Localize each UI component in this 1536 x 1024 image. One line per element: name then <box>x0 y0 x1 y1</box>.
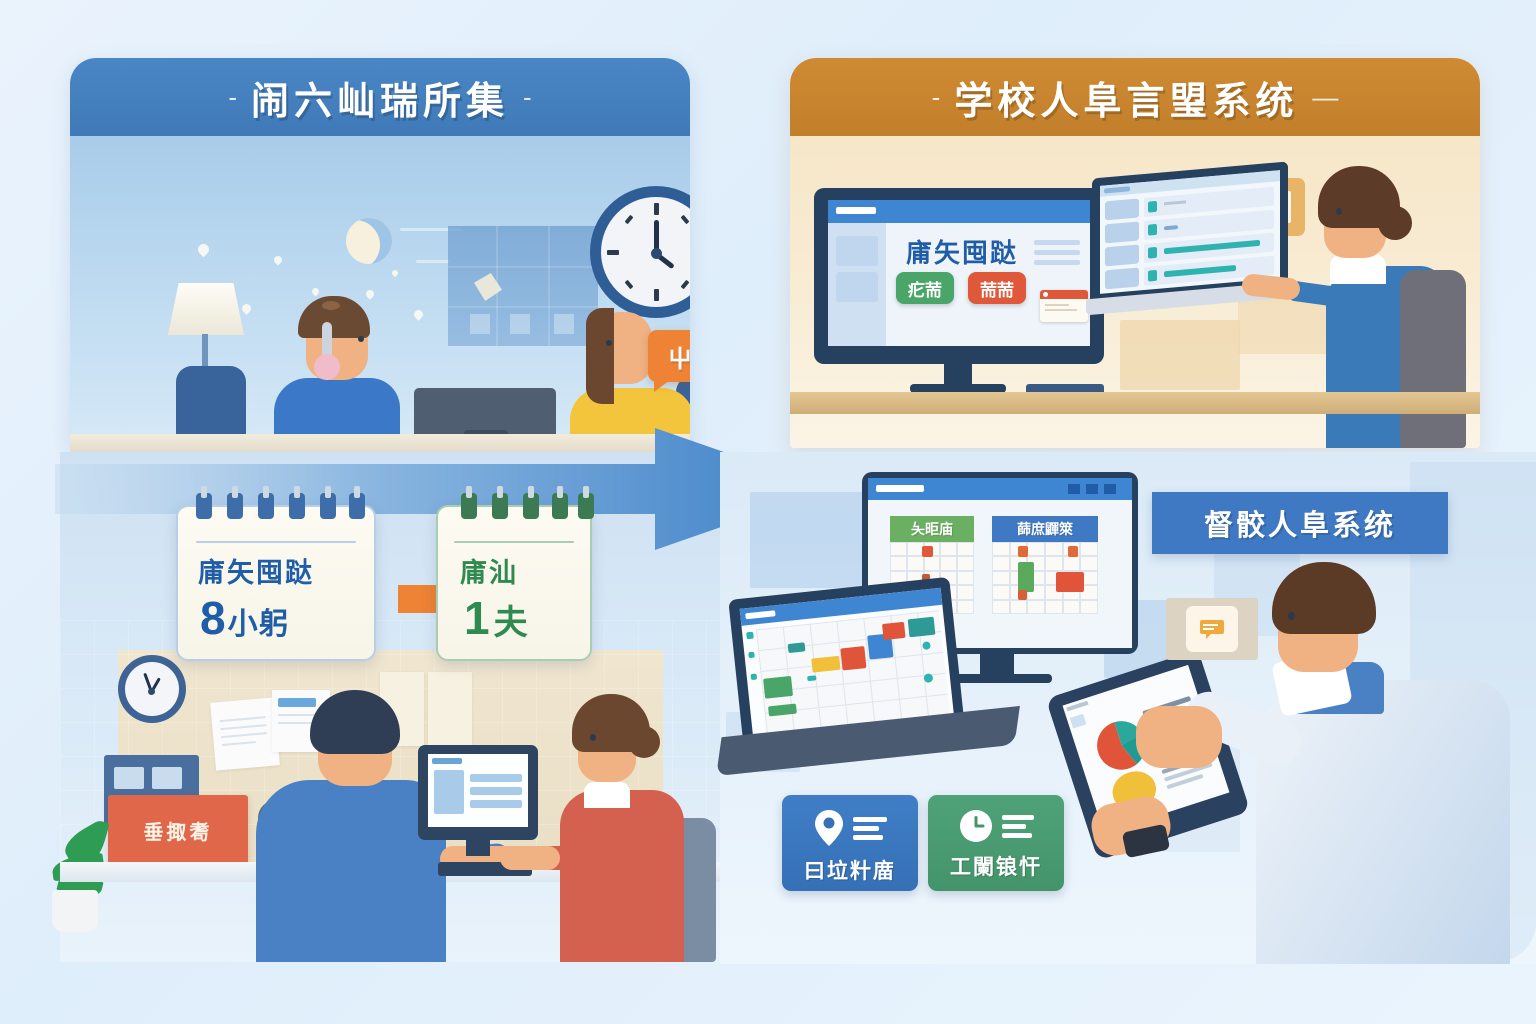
star-icon <box>272 254 283 265</box>
person-woman-red-body <box>560 790 684 962</box>
calendar-event <box>922 546 933 557</box>
location-pin-icon <box>814 809 844 847</box>
calendar-event <box>1018 546 1028 557</box>
lamp-icon <box>168 283 244 335</box>
calendar-ring <box>578 493 594 519</box>
notification-popup[interactable] <box>1040 290 1088 322</box>
list-lines-icon <box>853 817 887 840</box>
star-icon <box>240 302 253 315</box>
calendar-event <box>1056 572 1084 592</box>
calendar-ring <box>196 493 212 519</box>
calendar-right-title: 蒒庶鼲箂 <box>992 516 1098 542</box>
calendar-event <box>1018 590 1027 600</box>
titlebar-label <box>876 485 924 492</box>
eye <box>590 734 596 741</box>
calendar-ring <box>258 493 274 519</box>
calendar-ring <box>349 493 365 519</box>
app-title-bar <box>432 758 462 764</box>
star-icon <box>412 308 425 321</box>
calendar-ring <box>320 493 336 519</box>
plant-pot <box>52 890 98 932</box>
calendar-before-number: 8 <box>200 591 226 645</box>
eye <box>1288 612 1295 620</box>
calendar-ring <box>289 493 305 519</box>
panel-title-night-overtime: 闹六屾瑞所集 <box>251 70 509 125</box>
star-icon <box>391 269 399 277</box>
calendar-ring <box>461 493 477 519</box>
collar <box>584 782 630 808</box>
person-hand <box>500 846 560 870</box>
eye <box>606 340 612 346</box>
calendar-ring <box>492 493 508 519</box>
star-icon <box>364 288 375 299</box>
calendar-after-line1: 庯汕 <box>460 551 518 590</box>
header-dash-left: - <box>932 84 941 110</box>
feature-button-location-label: 曰垃籵庿 <box>804 855 896 885</box>
star-icon <box>311 287 321 297</box>
window-graphic <box>448 226 598 346</box>
hair-bun <box>1378 206 1412 240</box>
star-icon <box>196 242 212 258</box>
eye <box>358 336 364 342</box>
panel-title-school-hr: 学校人阜言琞系统 <box>954 70 1298 125</box>
hair-bun <box>628 726 660 758</box>
calendar-card-before: 庯矢囤跶 8 小躬 <box>176 505 376 661</box>
feature-button-location[interactable]: 曰垃籵庿 <box>782 795 918 891</box>
office-monitor-screen <box>428 754 528 827</box>
red-notice-sign: 垂掫耈 <box>108 795 248 865</box>
moon-icon <box>346 218 392 264</box>
calendar-before-line1: 庯矢囤跶 <box>198 551 314 590</box>
calendar-event <box>1068 546 1078 557</box>
paper-document <box>210 697 280 770</box>
desktop-monitor-screen: 庯矢囤跶 疕荋 荋荋 <box>828 200 1090 346</box>
smart-hr-banner: 督骹人阜系统 <box>1152 492 1448 554</box>
calendar-left-title: 夨昛庙 <box>890 516 974 542</box>
calendar-event <box>1018 562 1034 592</box>
feature-button-attendance[interactable]: 工闌锒忓 <box>928 795 1064 891</box>
monitor-screen-title: 庯矢囤跶 <box>906 233 1018 270</box>
paper-document <box>428 672 472 746</box>
titlebar-label <box>836 207 876 214</box>
cloud-streak <box>416 260 450 263</box>
calendar-after-number: 1 <box>464 591 490 645</box>
person-hand <box>1136 706 1222 768</box>
chat-bubble-tile[interactable] <box>1186 606 1238 652</box>
eye <box>1336 208 1342 215</box>
panel-school-hr-system: - 学校人阜言琞系统 — 庯矢 <box>790 58 1480 448</box>
collar <box>1330 254 1386 284</box>
clock-icon <box>959 809 993 843</box>
headphone-cup-icon <box>314 354 340 380</box>
list-lines-icon <box>1002 815 1034 838</box>
approve-button[interactable]: 疕荋 <box>896 272 954 304</box>
panel-night-overtime: - 闹六屾瑞所集 - <box>70 58 690 448</box>
chat-bubble-icon <box>1198 617 1226 641</box>
header-dash-right: — <box>1312 84 1338 110</box>
header-dash-left: - <box>228 84 237 110</box>
office-chair <box>1400 270 1466 448</box>
calendar-ring <box>552 493 568 519</box>
status-badge-overtime[interactable]: 屮跸 <box>648 330 690 382</box>
desk-surface-top-right <box>790 392 1480 414</box>
calendar-ring <box>227 493 243 519</box>
illustration-canvas: - 闹六屾瑞所集 - <box>0 0 1536 1024</box>
feature-button-attendance-label: 工闌锒忓 <box>950 851 1042 881</box>
header-dash-right: - <box>523 84 532 110</box>
calendar-ring <box>523 493 539 519</box>
calendar-after-unit: 夫 <box>494 595 528 644</box>
calendar-card-after: 庯汕 1 夫 <box>436 505 592 661</box>
calendar-before-unit: 小躬 <box>228 599 290 643</box>
reject-button[interactable]: 荋荋 <box>968 272 1026 304</box>
panel-header-school-hr: - 学校人阜言琞系统 — <box>790 58 1480 136</box>
person-man-white-coat-body <box>1256 680 1510 964</box>
panel-header-night-overtime: - 闹六屾瑞所集 - <box>70 58 690 136</box>
